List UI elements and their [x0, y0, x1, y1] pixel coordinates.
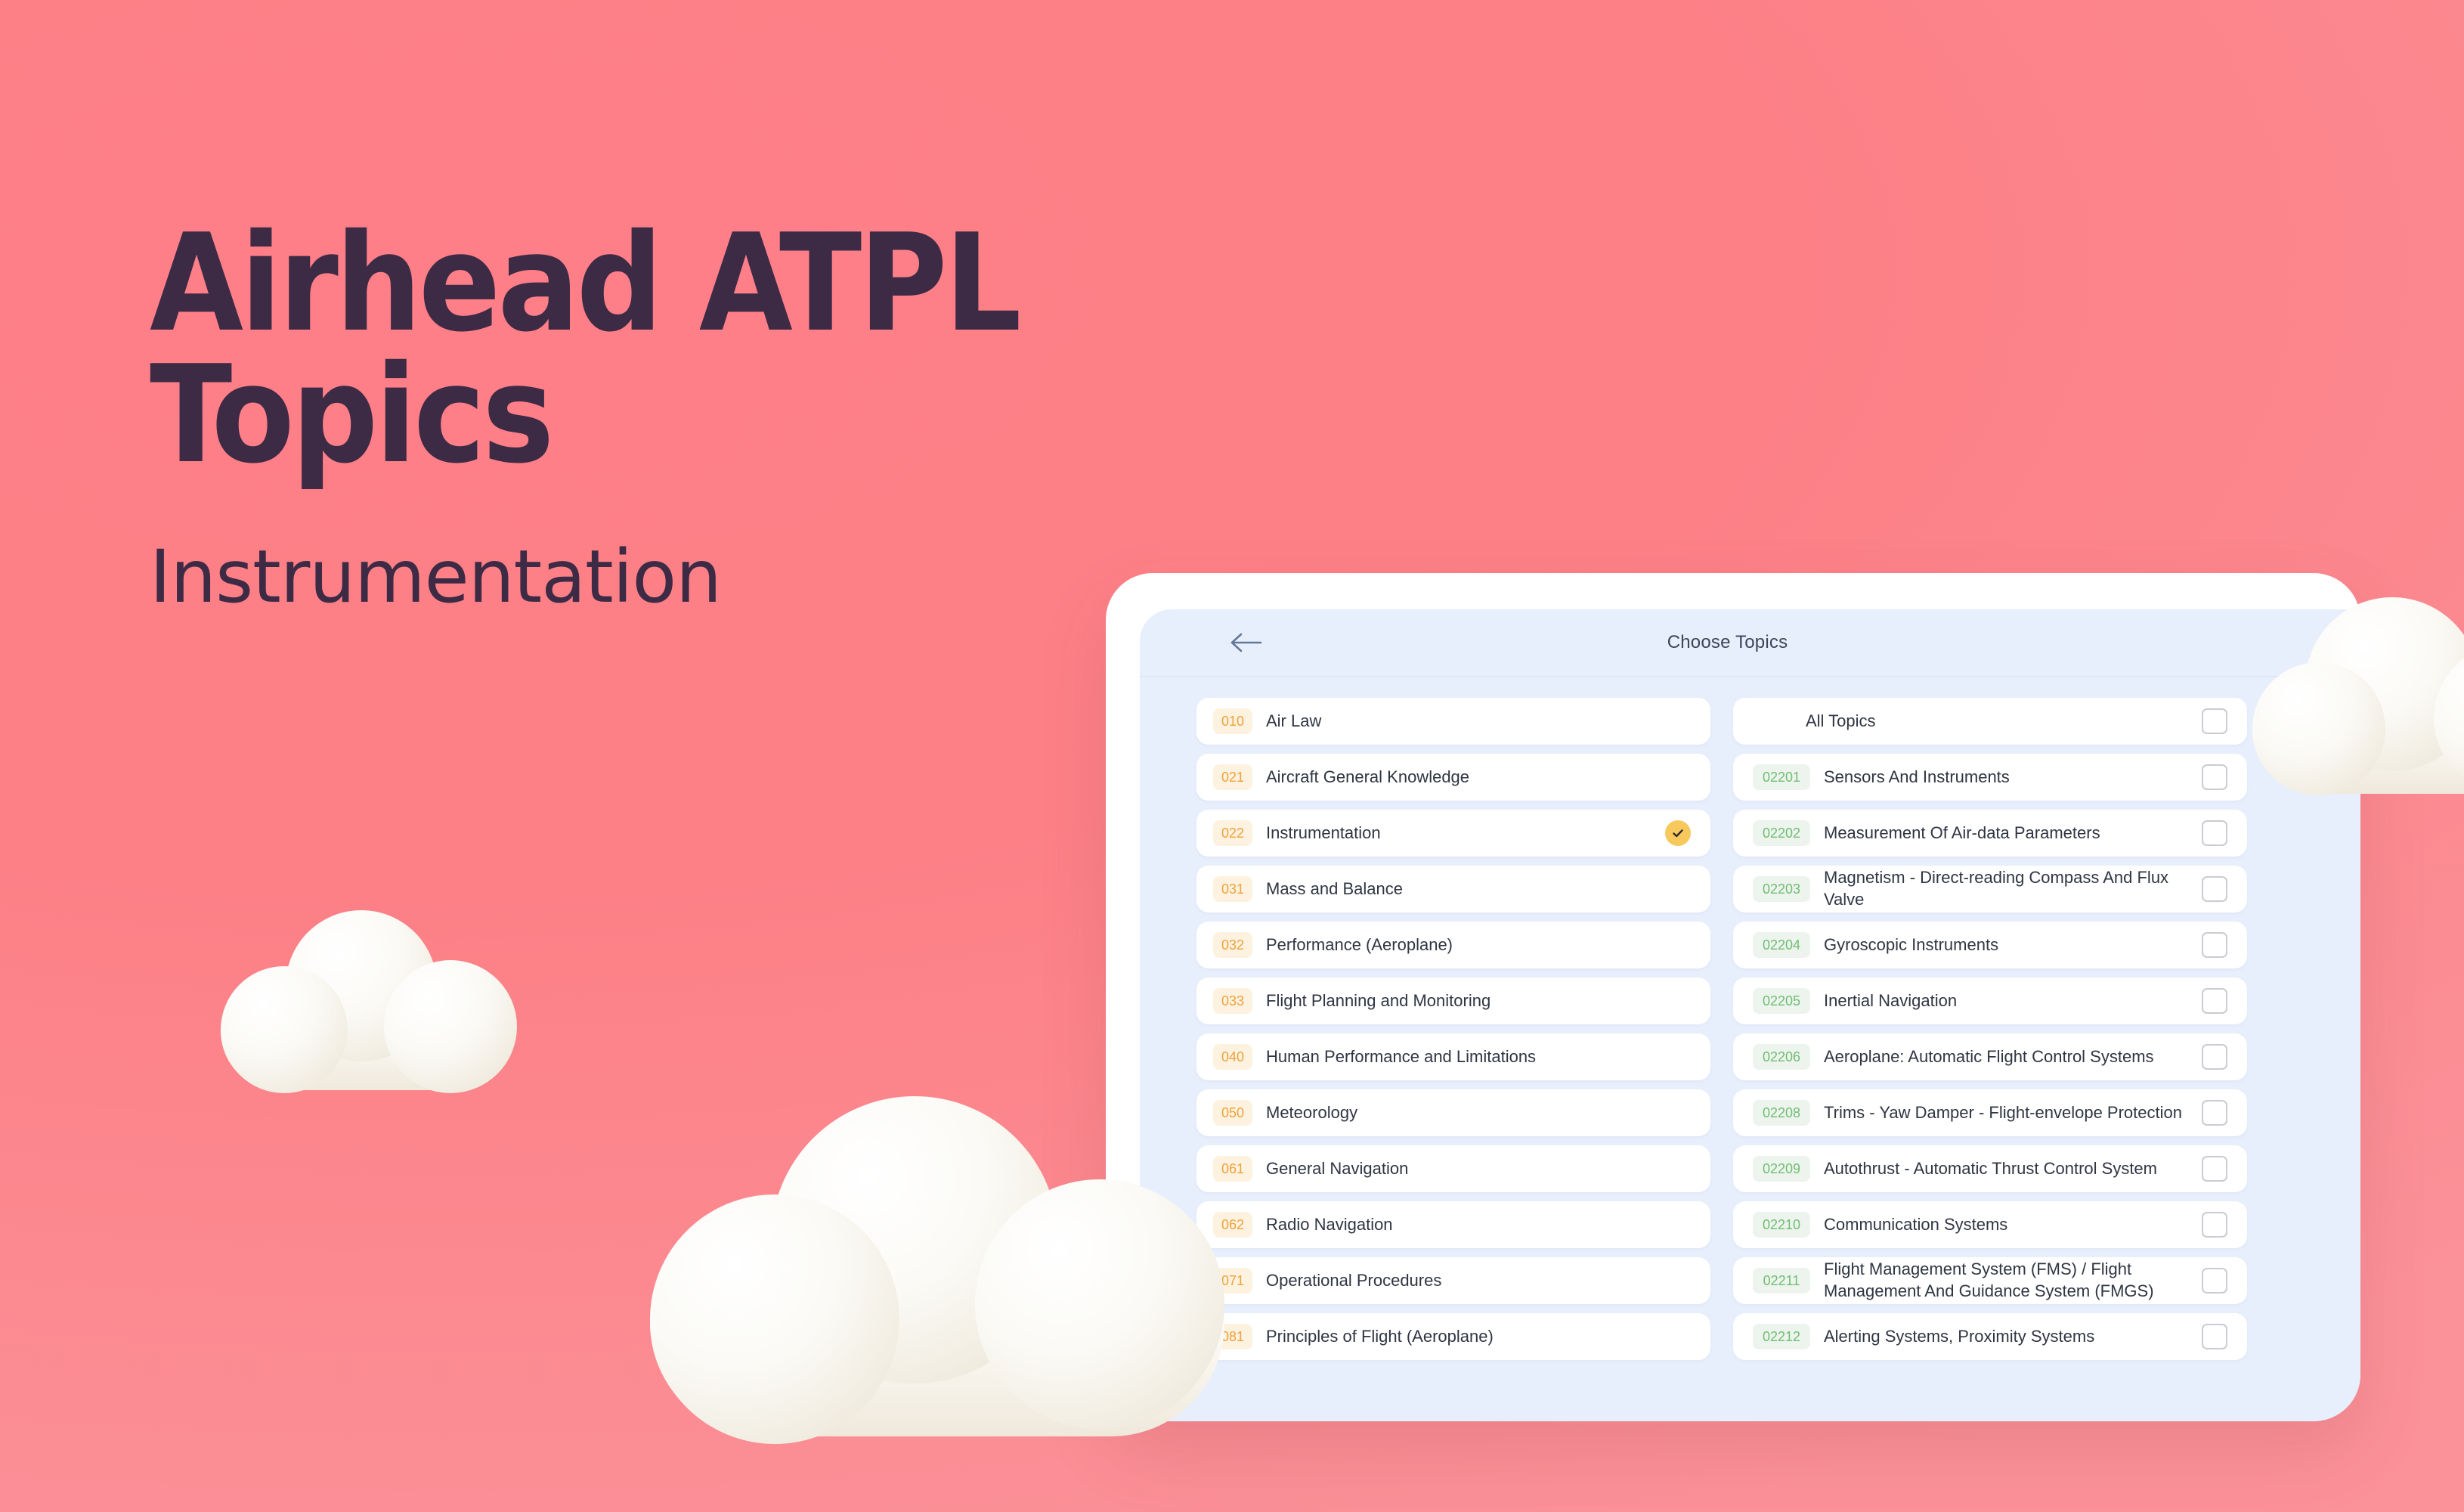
topic-checkbox[interactable] [2202, 1044, 2227, 1070]
subject-code-badge: 062 [1213, 1212, 1252, 1238]
topic-label: Magnetism - Direct-reading Compass And F… [1824, 867, 2202, 910]
headline-block: Airhead ATPL Topics Instrumentation [150, 218, 1283, 613]
topic-row[interactable]: 02204Gyroscopic Instruments [1733, 922, 2247, 968]
subject-label: Human Performance and Limitations [1266, 1046, 1691, 1068]
topic-checkbox[interactable] [2202, 876, 2227, 902]
subject-code-badge: 022 [1213, 820, 1252, 846]
topic-checkbox[interactable] [2202, 1100, 2227, 1126]
topic-row[interactable]: 02203Magnetism - Direct-reading Compass … [1733, 866, 2247, 912]
topic-row[interactable]: 02201Sensors And Instruments [1733, 754, 2247, 801]
topic-checkbox[interactable] [2202, 988, 2227, 1014]
topic-code-badge: 02212 [1753, 1324, 1810, 1349]
topic-label: Aeroplane: Automatic Flight Control Syst… [1824, 1046, 2202, 1068]
topic-row[interactable]: 02211Flight Management System (FMS) / Fl… [1733, 1257, 2247, 1304]
topic-label: Measurement Of Air-data Parameters [1824, 823, 2202, 844]
subject-row[interactable]: 040Human Performance and Limitations [1196, 1033, 1710, 1080]
subject-code-badge: 033 [1213, 988, 1252, 1014]
topic-row[interactable]: 02205Inertial Navigation [1733, 978, 2247, 1024]
screen-header: Choose Topics [1140, 609, 2360, 677]
subject-label: Air Law [1266, 711, 1691, 733]
topic-code-badge: 02211 [1753, 1268, 1810, 1294]
subject-code-badge: 081 [1213, 1324, 1252, 1349]
topic-checkbox[interactable] [2202, 932, 2227, 958]
topic-columns: 010Air Law021Aircraft General Knowledge0… [1140, 677, 2360, 1421]
subject-row[interactable]: 071Operational Procedures [1196, 1257, 1710, 1304]
subject-label: Performance (Aeroplane) [1266, 934, 1691, 956]
subject-label: Flight Planning and Monitoring [1266, 990, 1691, 1012]
tablet-screen: Choose Topics 010Air Law021Aircraft Gene… [1140, 609, 2360, 1421]
check-circle-icon [1665, 820, 1691, 846]
topic-code-badge: 02210 [1753, 1212, 1810, 1238]
topic-label: Gyroscopic Instruments [1824, 934, 2202, 956]
subject-code-badge: 040 [1213, 1044, 1252, 1070]
topic-row[interactable]: 02208Trims - Yaw Damper - Flight-envelop… [1733, 1089, 2247, 1136]
subject-code-badge: 010 [1213, 708, 1252, 734]
topic-list: All Topics02201Sensors And Instruments02… [1733, 698, 2247, 1421]
topic-label: Trims - Yaw Damper - Flight-envelope Pro… [1824, 1102, 2202, 1124]
subject-row[interactable]: 081Principles of Flight (Aeroplane) [1196, 1313, 1710, 1360]
topic-code-badge: 02209 [1753, 1156, 1810, 1182]
topic-row[interactable]: 02206Aeroplane: Automatic Flight Control… [1733, 1033, 2247, 1080]
subject-row[interactable]: 022Instrumentation [1196, 810, 1710, 857]
subject-list: 010Air Law021Aircraft General Knowledge0… [1196, 698, 1710, 1421]
subject-row[interactable]: 032Performance (Aeroplane) [1196, 922, 1710, 968]
tablet-device: Choose Topics 010Air Law021Aircraft Gene… [1106, 573, 2360, 1421]
subject-row[interactable]: 033Flight Planning and Monitoring [1196, 978, 1710, 1024]
subject-row[interactable]: 021Aircraft General Knowledge [1196, 754, 1710, 801]
topic-label: Inertial Navigation [1824, 990, 2202, 1012]
subject-label: Instrumentation [1266, 823, 1665, 844]
subject-row[interactable]: 050Meteorology [1196, 1089, 1710, 1136]
topic-checkbox[interactable] [2202, 1268, 2227, 1294]
subject-label: Mass and Balance [1266, 878, 1691, 900]
subject-row[interactable]: 061General Navigation [1196, 1145, 1710, 1192]
page-title-line-2: Topics [150, 349, 1283, 481]
topic-row[interactable]: 02212Alerting Systems, Proximity Systems [1733, 1313, 2247, 1360]
subject-code-badge: 031 [1213, 876, 1252, 902]
topic-row[interactable]: 02210Communication Systems [1733, 1201, 2247, 1248]
topic-row[interactable]: All Topics [1733, 698, 2247, 745]
topic-label: All Topics [1806, 711, 2202, 733]
topic-label: Communication Systems [1824, 1214, 2202, 1236]
subject-label: Operational Procedures [1266, 1270, 1691, 1292]
subject-row[interactable]: 031Mass and Balance [1196, 866, 1710, 912]
subject-label: General Navigation [1266, 1158, 1691, 1180]
subject-label: Principles of Flight (Aeroplane) [1266, 1326, 1691, 1348]
subject-code-badge: 061 [1213, 1156, 1252, 1182]
subject-code-badge: 071 [1213, 1268, 1252, 1294]
topic-checkbox[interactable] [2202, 1212, 2227, 1238]
subject-label: Meteorology [1266, 1102, 1691, 1124]
subject-code-badge: 050 [1213, 1100, 1252, 1126]
topic-checkbox[interactable] [2202, 1324, 2227, 1349]
topic-row[interactable]: 02202Measurement Of Air-data Parameters [1733, 810, 2247, 857]
subject-row[interactable]: 062Radio Navigation [1196, 1201, 1710, 1248]
subject-code-badge: 021 [1213, 764, 1252, 790]
screen-title: Choose Topics [1140, 632, 2360, 653]
arrow-left-icon[interactable] [1229, 631, 1262, 654]
topic-row[interactable]: 02209Autothrust - Automatic Thrust Contr… [1733, 1145, 2247, 1192]
topic-checkbox[interactable] [2202, 764, 2227, 790]
topic-label: Alerting Systems, Proximity Systems [1824, 1326, 2202, 1348]
topic-code-badge: 02204 [1753, 932, 1810, 958]
topic-code-badge: 02201 [1753, 764, 1810, 790]
topic-label: Flight Management System (FMS) / Flight … [1824, 1259, 2202, 1302]
subject-code-badge: 032 [1213, 932, 1252, 958]
topic-code-badge [1753, 708, 1792, 734]
topic-label: Autothrust - Automatic Thrust Control Sy… [1824, 1158, 2202, 1180]
topic-code-badge: 02205 [1753, 988, 1810, 1014]
topic-checkbox[interactable] [2202, 708, 2227, 734]
topic-checkbox[interactable] [2202, 1156, 2227, 1182]
page-title: Airhead ATPL Topics [150, 218, 1283, 482]
topic-code-badge: 02202 [1753, 820, 1810, 846]
topic-checkbox[interactable] [2202, 820, 2227, 846]
topic-code-badge: 02208 [1753, 1100, 1810, 1126]
subject-row[interactable]: 010Air Law [1196, 698, 1710, 745]
subject-label: Radio Navigation [1266, 1214, 1691, 1236]
topic-code-badge: 02206 [1753, 1044, 1810, 1070]
topic-label: Sensors And Instruments [1824, 767, 2202, 789]
page-title-line-1: Airhead ATPL [150, 218, 1283, 349]
topic-code-badge: 02203 [1753, 876, 1810, 902]
subject-label: Aircraft General Knowledge [1266, 767, 1691, 789]
